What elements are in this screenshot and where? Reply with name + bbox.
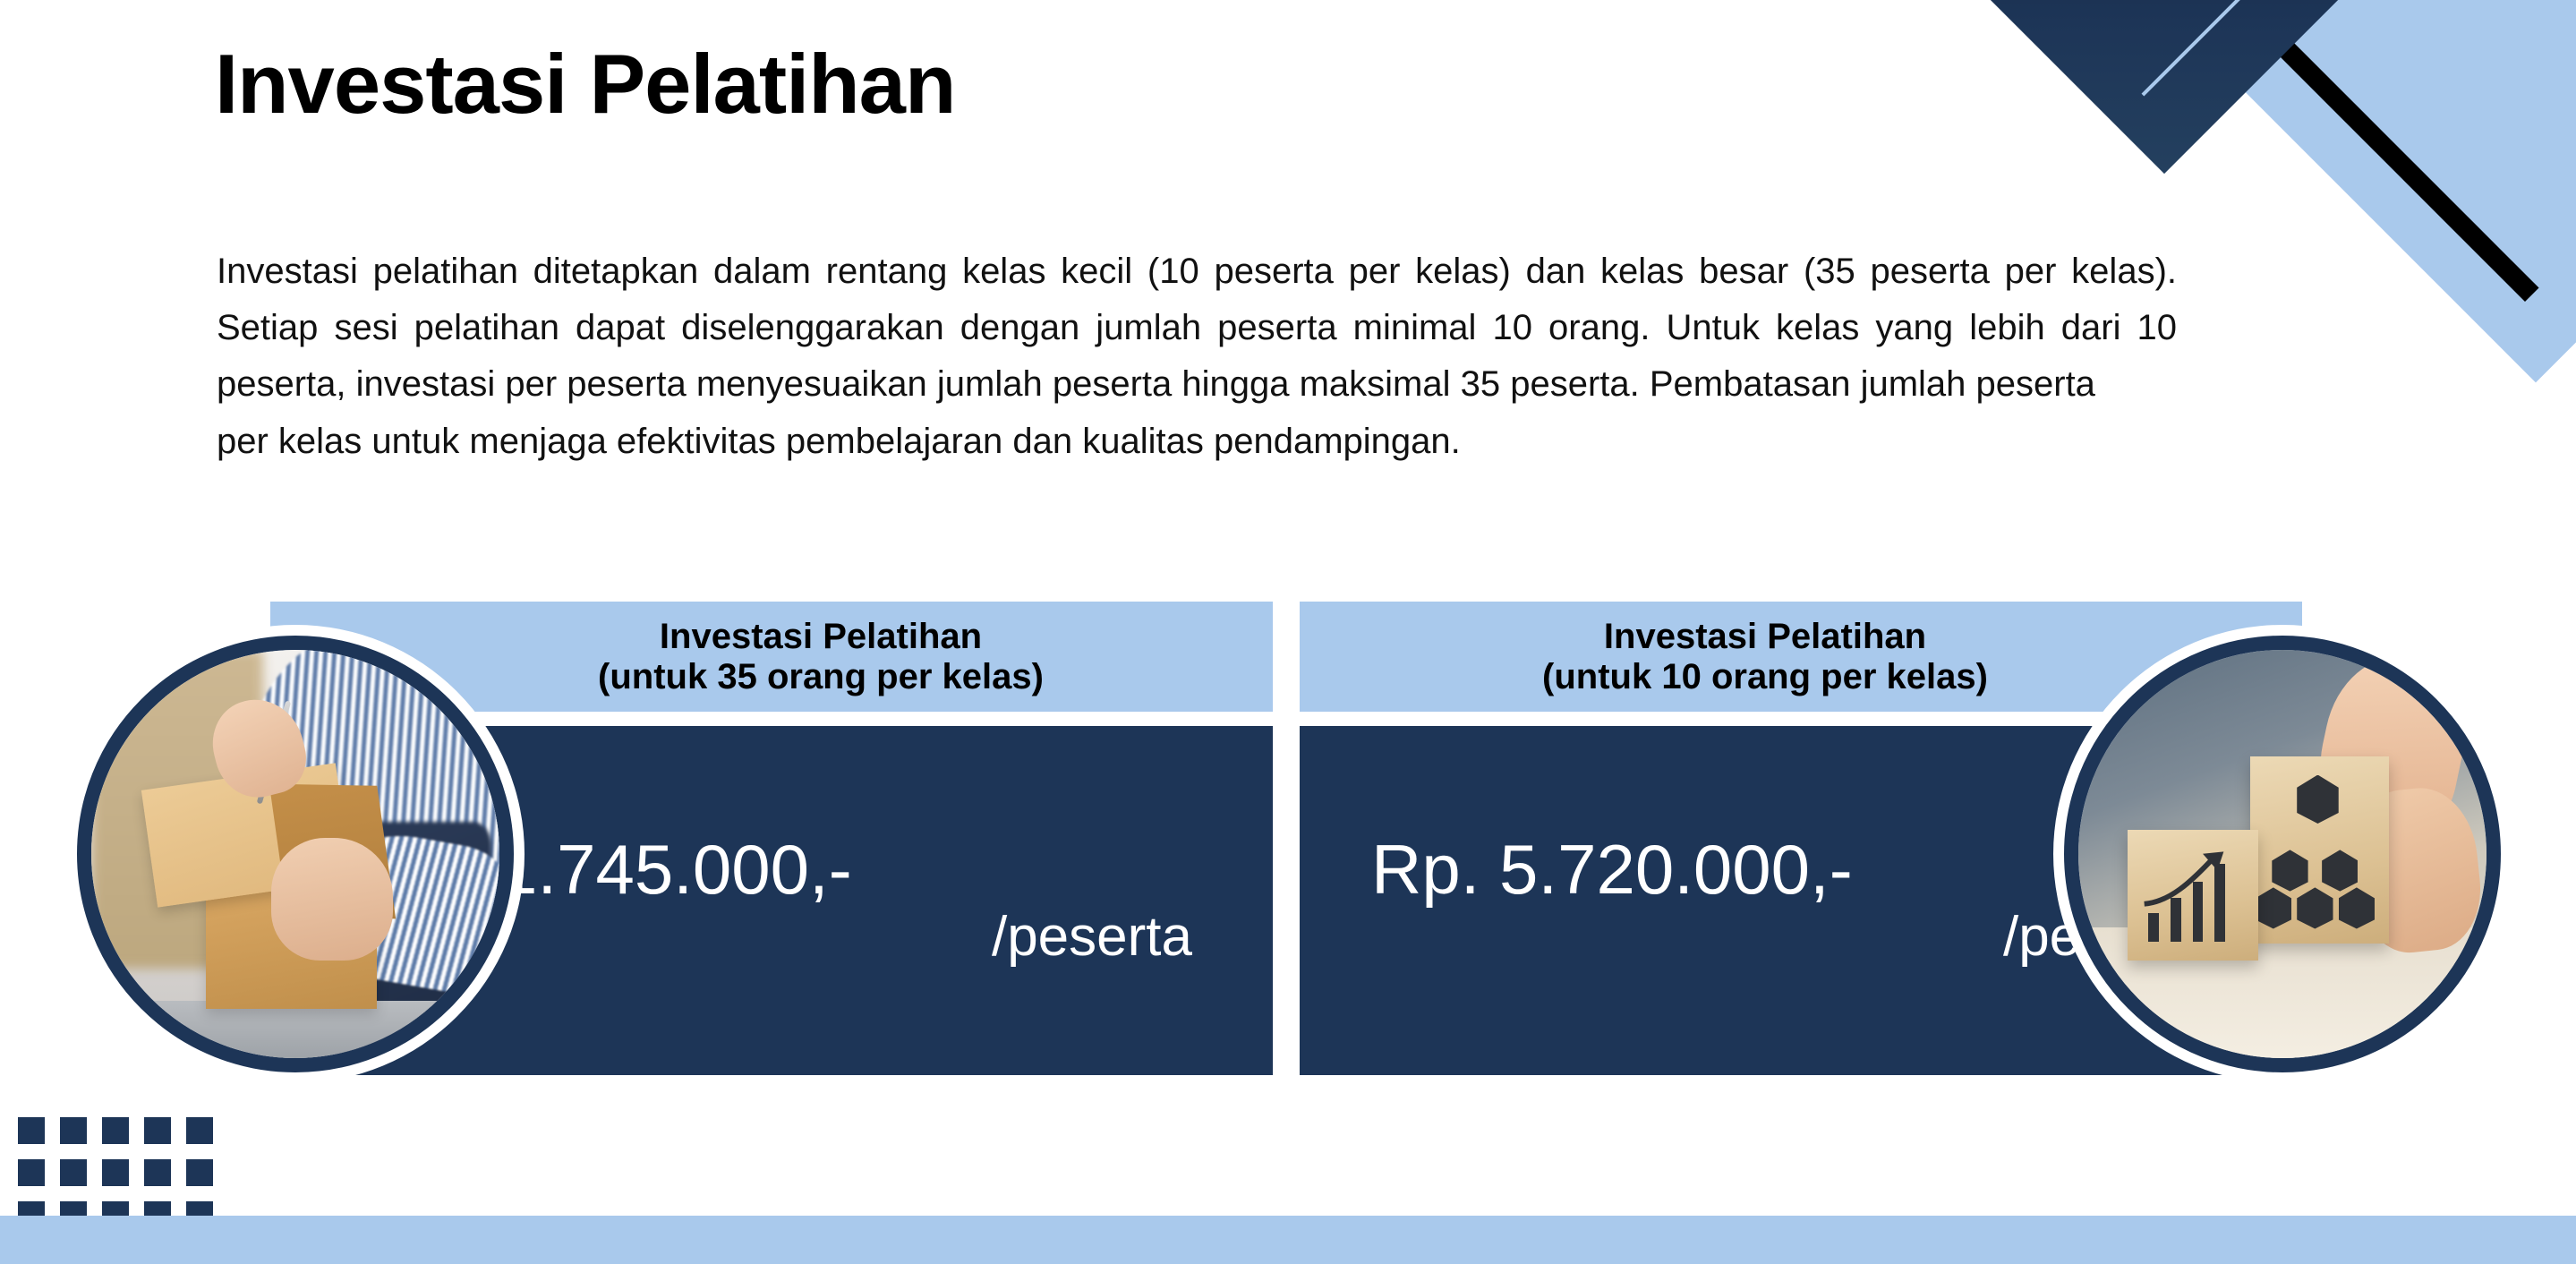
dot [18,1117,45,1144]
dot [60,1159,87,1186]
wooden-blocks-growth-chart-photo [2064,636,2501,1072]
dot [18,1159,45,1186]
dot [144,1117,171,1144]
light-blue-diamond-icon [2239,0,2576,382]
table-surface [91,1001,499,1058]
cube-icon [2297,887,2333,928]
person-writing-on-box-photo [77,636,514,1072]
black-chevron-icon [2253,0,2576,302]
navy-diamond-icon [1975,0,2354,174]
bar-icon [2148,913,2159,942]
pricing-card-10-title: Investasi Pelatihan [1604,617,1926,657]
cube-icon [2256,887,2291,928]
slide-canvas: Investasi Pelatihan Investasi pelatihan … [0,0,2576,1264]
bar-icon [2193,882,2204,942]
bar-icon [2214,864,2225,943]
light-blue-footer-bar [0,1216,2576,1264]
cube-icon [2272,850,2307,891]
dot [60,1117,87,1144]
pricing-card-35-photo-frame [66,625,525,1083]
intro-paragraph: Investasi pelatihan ditetapkan dalam ren… [217,243,2177,470]
cube-icon [2339,887,2375,928]
pricing-card-10-subtitle: (untuk 10 orang per kelas) [1542,657,1988,697]
cube-icon [2322,850,2358,891]
pricing-card-10-photo-frame [2053,625,2512,1083]
dot [144,1159,171,1186]
dot [186,1159,213,1186]
wooden-block-cubes [2250,756,2389,944]
dot [102,1117,129,1144]
hand-holding-box [271,838,394,961]
wooden-block-growth-chart [2128,830,2258,961]
pricing-card-35-subtitle: (untuk 35 orang per kelas) [598,657,1044,697]
pricing-card-35-title: Investasi Pelatihan [660,617,982,657]
cube-icon [2297,775,2339,824]
paragraph-line-1: Investasi pelatihan ditetapkan dalam ren… [217,252,2177,404]
navy-diamond-accent-line-icon [2142,0,2334,96]
dot [186,1117,213,1144]
paragraph-line-2: per kelas untuk menjaga efektivitas pemb… [217,414,2177,470]
page-title: Investasi Pelatihan [215,36,955,132]
bar-icon [2171,898,2181,943]
dot [102,1159,129,1186]
